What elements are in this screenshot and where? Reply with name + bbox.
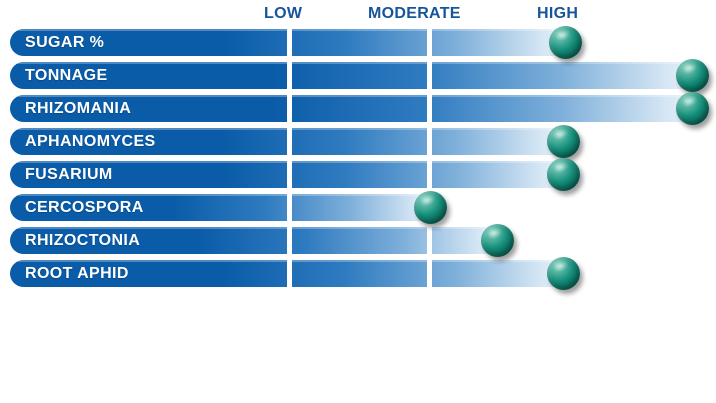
scale-divider — [427, 227, 432, 254]
row-label-fusarium: FUSARIUM — [25, 161, 113, 188]
scale-divider — [287, 95, 292, 122]
rating-bar — [10, 62, 700, 89]
chart-row: CERCOSPORA — [0, 194, 716, 221]
row-label-sugar: SUGAR % — [25, 29, 104, 56]
rating-marker-sphere — [676, 59, 709, 92]
row-label-tonnage: TONNAGE — [25, 62, 108, 89]
chart-row: RHIZOCTONIA — [0, 227, 716, 254]
chart-row: TONNAGE — [0, 62, 716, 89]
scale-divider — [287, 62, 292, 89]
chart-row: APHANOMYCES — [0, 128, 716, 155]
chart-row: RHIZOMANIA — [0, 95, 716, 122]
scale-divider — [287, 29, 292, 56]
row-label-root-aphid: ROOT APHID — [25, 260, 129, 287]
rating-marker-sphere — [547, 257, 580, 290]
rating-marker-sphere — [547, 125, 580, 158]
rating-marker-sphere — [549, 26, 582, 59]
row-label-aphanomyces: APHANOMYCES — [25, 128, 156, 155]
rating-marker-sphere — [414, 191, 447, 224]
row-label-rhizoctonia: RHIZOCTONIA — [25, 227, 140, 254]
rating-scale-chart: LOW MODERATE HIGH SUGAR %TONNAGERHIZOMAN… — [0, 0, 716, 403]
rating-marker-sphere — [481, 224, 514, 257]
scale-divider — [287, 161, 292, 188]
scale-divider — [427, 128, 432, 155]
rating-marker-sphere — [676, 92, 709, 125]
scale-divider — [427, 161, 432, 188]
scale-label-low: LOW — [264, 3, 302, 25]
scale-divider — [427, 62, 432, 89]
rating-marker-sphere — [547, 158, 580, 191]
scale-divider — [427, 29, 432, 56]
chart-row: FUSARIUM — [0, 161, 716, 188]
chart-row: ROOT APHID — [0, 260, 716, 287]
row-label-cercospora: CERCOSPORA — [25, 194, 144, 221]
scale-divider — [427, 95, 432, 122]
scale-divider — [287, 260, 292, 287]
scale-divider — [287, 128, 292, 155]
scale-header: LOW MODERATE HIGH — [0, 3, 716, 28]
scale-divider — [427, 260, 432, 287]
scale-divider — [287, 227, 292, 254]
scale-label-moderate: MODERATE — [368, 3, 461, 25]
scale-divider — [287, 194, 292, 221]
chart-rows: SUGAR %TONNAGERHIZOMANIAAPHANOMYCESFUSAR… — [0, 29, 716, 297]
chart-row: SUGAR % — [0, 29, 716, 56]
row-label-rhizomania: RHIZOMANIA — [25, 95, 131, 122]
scale-label-high: HIGH — [537, 3, 578, 25]
